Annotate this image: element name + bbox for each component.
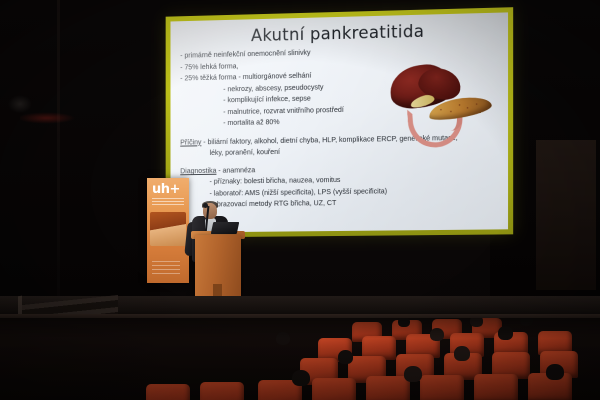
audience-head (470, 318, 483, 327)
audience-head (430, 328, 444, 341)
audience-head (520, 318, 533, 326)
wall-red-detail (20, 100, 108, 130)
seat (366, 376, 410, 400)
projection-screen: Akutní pankreatitida - primárně neinfekč… (171, 12, 509, 232)
banner-subtitle-text (152, 198, 184, 205)
banner-footer-text (152, 261, 180, 275)
slide-title: Akutní pankreatitida (180, 21, 498, 47)
left-wall (0, 0, 160, 300)
audience-head (276, 332, 290, 345)
slide-content: Akutní pankreatitida - primárně neinfekč… (171, 12, 509, 232)
banner-building-photo (150, 212, 186, 246)
laptop-icon (211, 222, 240, 234)
seat (146, 384, 190, 400)
seat (474, 374, 518, 400)
anatomy-illustration (388, 61, 494, 140)
seat (200, 382, 244, 400)
audience-head (292, 370, 310, 386)
audience-seating (0, 318, 600, 400)
audience-head (338, 350, 353, 364)
slide-causes-heading: Příčiny (180, 138, 201, 146)
wall-seam (57, 0, 60, 300)
audience-head (498, 326, 513, 340)
audience-head (546, 364, 564, 380)
audience-head (454, 346, 470, 361)
audience-head (398, 318, 410, 327)
microphone-icon (203, 203, 208, 208)
right-wall-poster (536, 140, 596, 290)
banner-logo: uh+ (152, 183, 180, 196)
lecture-hall-photo: Akutní pankreatitida - primárně neinfekč… (0, 0, 600, 400)
slide-diagnostics-heading: Diagnostika (180, 167, 216, 175)
audience-head (404, 366, 422, 382)
slide-diagnostics-text: - anamnéza (216, 166, 255, 175)
rollup-banner: uh+ (147, 178, 189, 283)
seat (420, 375, 464, 400)
seat (312, 378, 356, 400)
